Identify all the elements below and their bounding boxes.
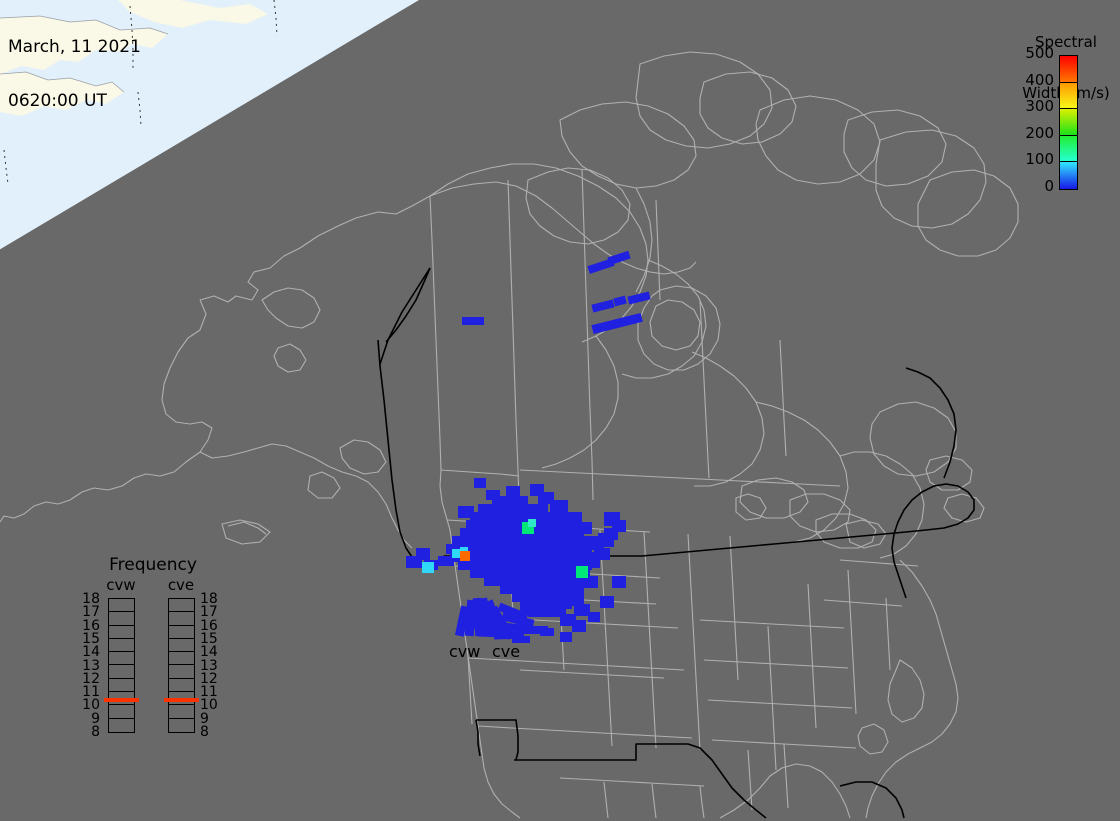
freq-cell-cvw-8-9 [109, 719, 134, 732]
colorbar-tick-100: 100 [1010, 152, 1054, 167]
colorbar-tick-labels: 500 400 300 200 100 0 [1010, 46, 1054, 198]
colorbar-tick-400: 400 [1010, 73, 1054, 88]
map-site-label-cve: cve [492, 643, 520, 660]
colorbar-tick-500: 500 [1010, 46, 1054, 61]
freq-cell-cvw-9-10 [109, 705, 134, 718]
timestamp-date: March, 11 2021 [8, 38, 141, 56]
colorbar-gradient-box [1059, 55, 1078, 190]
frequency-bar-cvw [108, 598, 135, 733]
colorbar-segment-0-100 [1060, 162, 1077, 189]
colorbar-segment-300-400 [1060, 83, 1077, 110]
colorbar-tick-0: 0 [1010, 179, 1054, 194]
frequency-ticks-left: 18 17 16 15 14 13 12 11 10 9 8 [78, 592, 100, 738]
colorbar-segment-100-200 [1060, 136, 1077, 163]
freq-cell-cve-17-18 [169, 599, 194, 612]
frequency-bar-cve [168, 598, 195, 733]
spectral-width-colorbar: Spectral Width (m/s) 500 400 300 200 100… [1012, 0, 1120, 200]
freq-cell-cve-8-9 [169, 719, 194, 732]
echo-cells-teal [528, 519, 536, 527]
colorbar-segment-200-300 [1060, 109, 1077, 136]
freq-cell-cve-12-13 [169, 665, 194, 678]
radar-map-canvas: March, 11 2021 0620:00 UT Spectral Width… [0, 0, 1120, 821]
frequency-marker-cvw [104, 698, 139, 702]
frequency-marker-cve [164, 698, 199, 702]
colorbar-tick-300: 300 [1010, 99, 1054, 114]
timestamp-time: 0620:00 UT [8, 92, 141, 110]
freq-cell-cvw-17-18 [109, 599, 134, 612]
frequency-ticks-right: 18 17 16 15 14 13 12 11 10 9 8 [200, 592, 222, 738]
freq-cell-cvw-16-17 [109, 612, 134, 625]
freq-cell-cvw-14-15 [109, 639, 134, 652]
frequency-column-label-cvw: cvw [104, 577, 138, 593]
frequency-legend-title: Frequency [78, 556, 228, 574]
freq-tick-left-8: 8 [78, 725, 100, 739]
freq-cell-cvw-12-13 [109, 665, 134, 678]
freq-cell-cvw-13-14 [109, 652, 134, 665]
freq-cell-cvw-11-12 [109, 679, 134, 692]
freq-cell-cve-13-14 [169, 652, 194, 665]
freq-cell-cvw-15-16 [109, 626, 134, 639]
map-site-label-cvw: cvw [449, 643, 480, 660]
freq-cell-cve-15-16 [169, 626, 194, 639]
timestamp-overlay: March, 11 2021 0620:00 UT [8, 2, 141, 146]
freq-tick-right-8: 8 [200, 725, 222, 739]
colorbar-tick-200: 200 [1010, 126, 1054, 141]
freq-cell-cve-14-15 [169, 639, 194, 652]
freq-cell-cve-9-10 [169, 705, 194, 718]
colorbar-segment-400-500 [1060, 56, 1077, 83]
freq-cell-cve-11-12 [169, 679, 194, 692]
frequency-legend: Frequency cvw cve 18 17 16 15 14 13 12 1… [78, 556, 228, 788]
frequency-column-label-cve: cve [164, 577, 198, 593]
freq-cell-cve-16-17 [169, 612, 194, 625]
echo-cell-orange-high-spectral-width [460, 551, 470, 561]
